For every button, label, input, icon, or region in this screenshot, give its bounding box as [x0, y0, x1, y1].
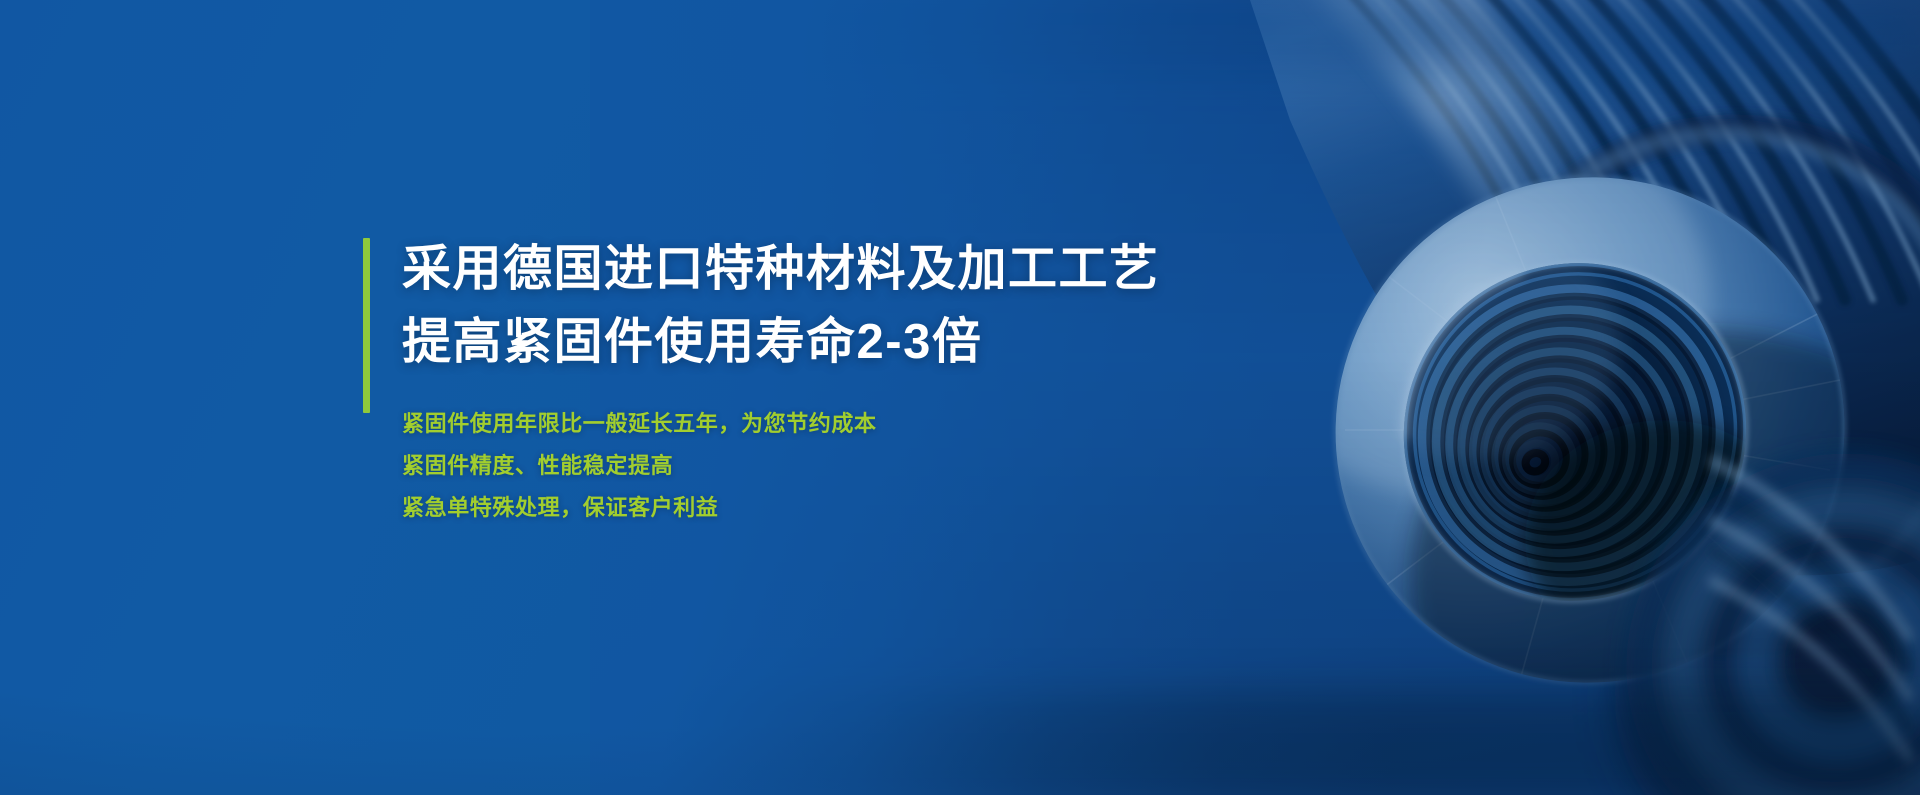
subline-group: 紧固件使用年限比一般延长五年，为您节约成本 紧固件精度、性能稳定提高 紧急单特殊… — [402, 403, 1160, 529]
green-accent-bar — [363, 238, 370, 413]
text-group: 采用德国进口特种材料及加工工艺 提高紧固件使用寿命2-3倍 紧固件使用年限比一般… — [402, 233, 1160, 529]
headline-line-2: 提高紧固件使用寿命2-3倍 — [402, 306, 1160, 379]
headline-line-1: 采用德国进口特种材料及加工工艺 — [402, 233, 1160, 306]
subline-1: 紧固件使用年限比一般延长五年，为您节约成本 — [402, 403, 1160, 445]
hero-banner: 采用德国进口特种材料及加工工艺 提高紧固件使用寿命2-3倍 紧固件使用年限比一般… — [0, 0, 1920, 795]
subline-3: 紧急单特殊处理，保证客户利益 — [402, 487, 1160, 529]
banner-content: 采用德国进口特种材料及加工工艺 提高紧固件使用寿命2-3倍 紧固件使用年限比一般… — [363, 233, 1160, 529]
subline-2: 紧固件精度、性能稳定提高 — [402, 445, 1160, 487]
